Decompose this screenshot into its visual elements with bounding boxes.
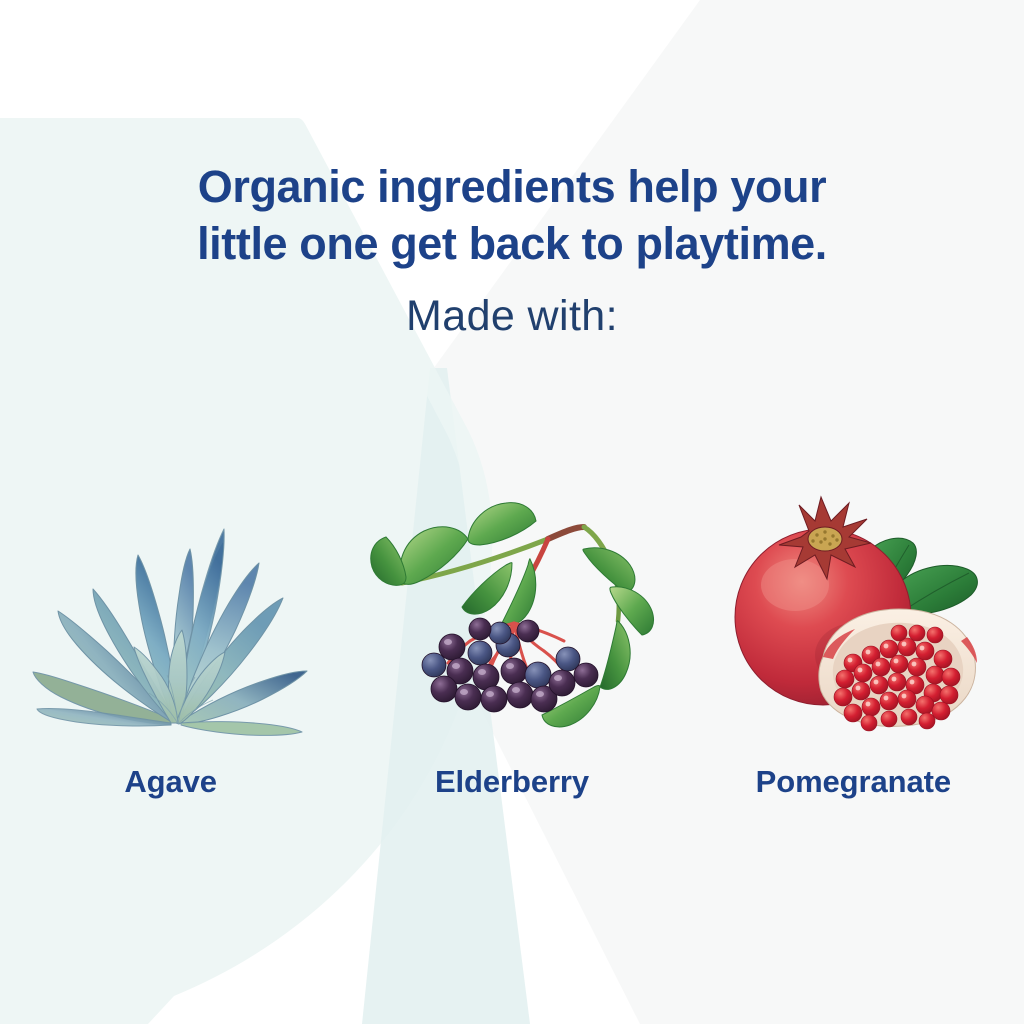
ingredient-item-pomegranate: Pomegranate (683, 487, 1024, 827)
leaf (583, 548, 635, 593)
pomegranate-open-half (819, 609, 977, 731)
elderberry-icon (362, 487, 662, 745)
ingredient-item-elderberry: Elderberry (341, 487, 682, 827)
ingredient-item-agave: Agave (0, 487, 341, 827)
subheadline: Made with: (0, 290, 1024, 342)
leaf (462, 563, 512, 614)
agave-icon (21, 487, 321, 745)
headline: Organic ingredients help your little one… (0, 158, 1024, 272)
infographic-canvas: Organic ingredients help your little one… (0, 0, 1024, 1024)
ingredient-label-pomegranate: Pomegranate (756, 765, 951, 799)
headline-line-2: little one get back to playtime. (0, 215, 1024, 272)
leaf (371, 537, 406, 585)
leaf (600, 621, 630, 690)
leaf (468, 503, 536, 545)
headline-line-1: Organic ingredients help your (0, 158, 1024, 215)
ingredient-row: Agave (0, 487, 1024, 827)
ingredient-label-agave: Agave (124, 765, 217, 799)
pomegranate-icon (703, 487, 1003, 745)
ingredient-label-elderberry: Elderberry (435, 765, 589, 799)
